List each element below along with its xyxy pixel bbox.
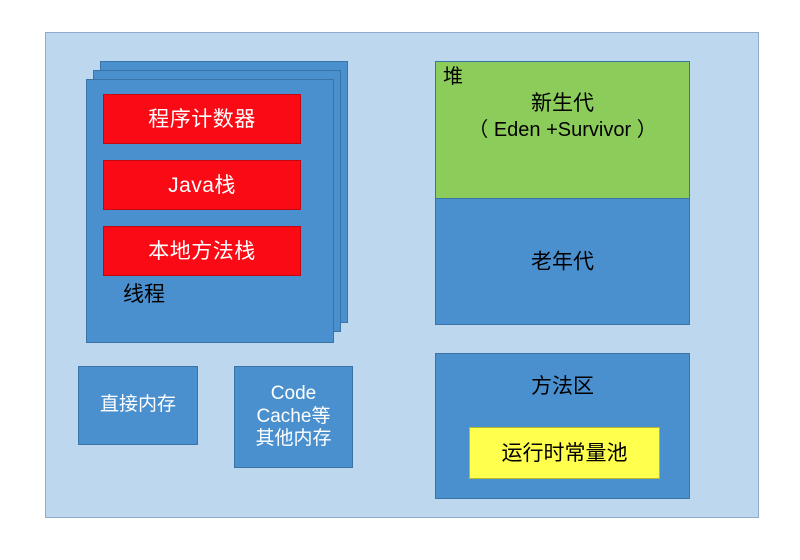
memory-block-program-counter: 程序计数器 [103, 94, 301, 144]
direct-memory-lines: 直接内存 [100, 394, 176, 416]
memory-block-native-method-stack: 本地方法栈 [103, 226, 301, 276]
thread-label: 线程 [123, 284, 165, 305]
code-cache-line-3: 其他内存 [255, 428, 331, 450]
method-area-title: 方法区 [436, 376, 689, 397]
code-cache-line-1: Code [255, 383, 331, 405]
old-generation-name: 老年代 [436, 251, 689, 272]
method-area-region: 方法区 运行时常量池 [435, 353, 690, 499]
heap-label: 堆 [443, 67, 463, 87]
runtime-constant-pool: 运行时常量池 [469, 427, 660, 479]
memory-block-java-stack: Java栈 [103, 160, 301, 210]
thread-stack-group: 程序计数器 Java栈 本地方法栈 线程 [86, 61, 348, 351]
direct-memory-line-1: 直接内存 [100, 394, 176, 416]
thread-card-front: 程序计数器 Java栈 本地方法栈 线程 [86, 79, 334, 343]
code-cache-line-2: Cache等 [255, 406, 331, 428]
jvm-memory-container: 程序计数器 Java栈 本地方法栈 线程 直接内存 Code Cache等 其他… [45, 32, 759, 518]
heap-region: 堆 新生代 （ Eden +Survivor ） 老年代 [435, 61, 690, 325]
box-code-cache-other-memory: Code Cache等 其他内存 [234, 366, 353, 468]
heap-old-generation: 老年代 [436, 199, 689, 324]
diagram-canvas: 程序计数器 Java栈 本地方法栈 线程 直接内存 Code Cache等 其他… [0, 0, 800, 560]
young-generation-name: 新生代 [436, 90, 689, 117]
box-direct-memory: 直接内存 [78, 366, 198, 445]
code-cache-lines: Code Cache等 其他内存 [255, 383, 331, 450]
heap-young-generation: 堆 新生代 （ Eden +Survivor ） [436, 62, 689, 199]
young-generation-text: 新生代 （ Eden +Survivor ） [436, 90, 689, 143]
young-generation-detail: （ Eden +Survivor ） [436, 117, 689, 143]
